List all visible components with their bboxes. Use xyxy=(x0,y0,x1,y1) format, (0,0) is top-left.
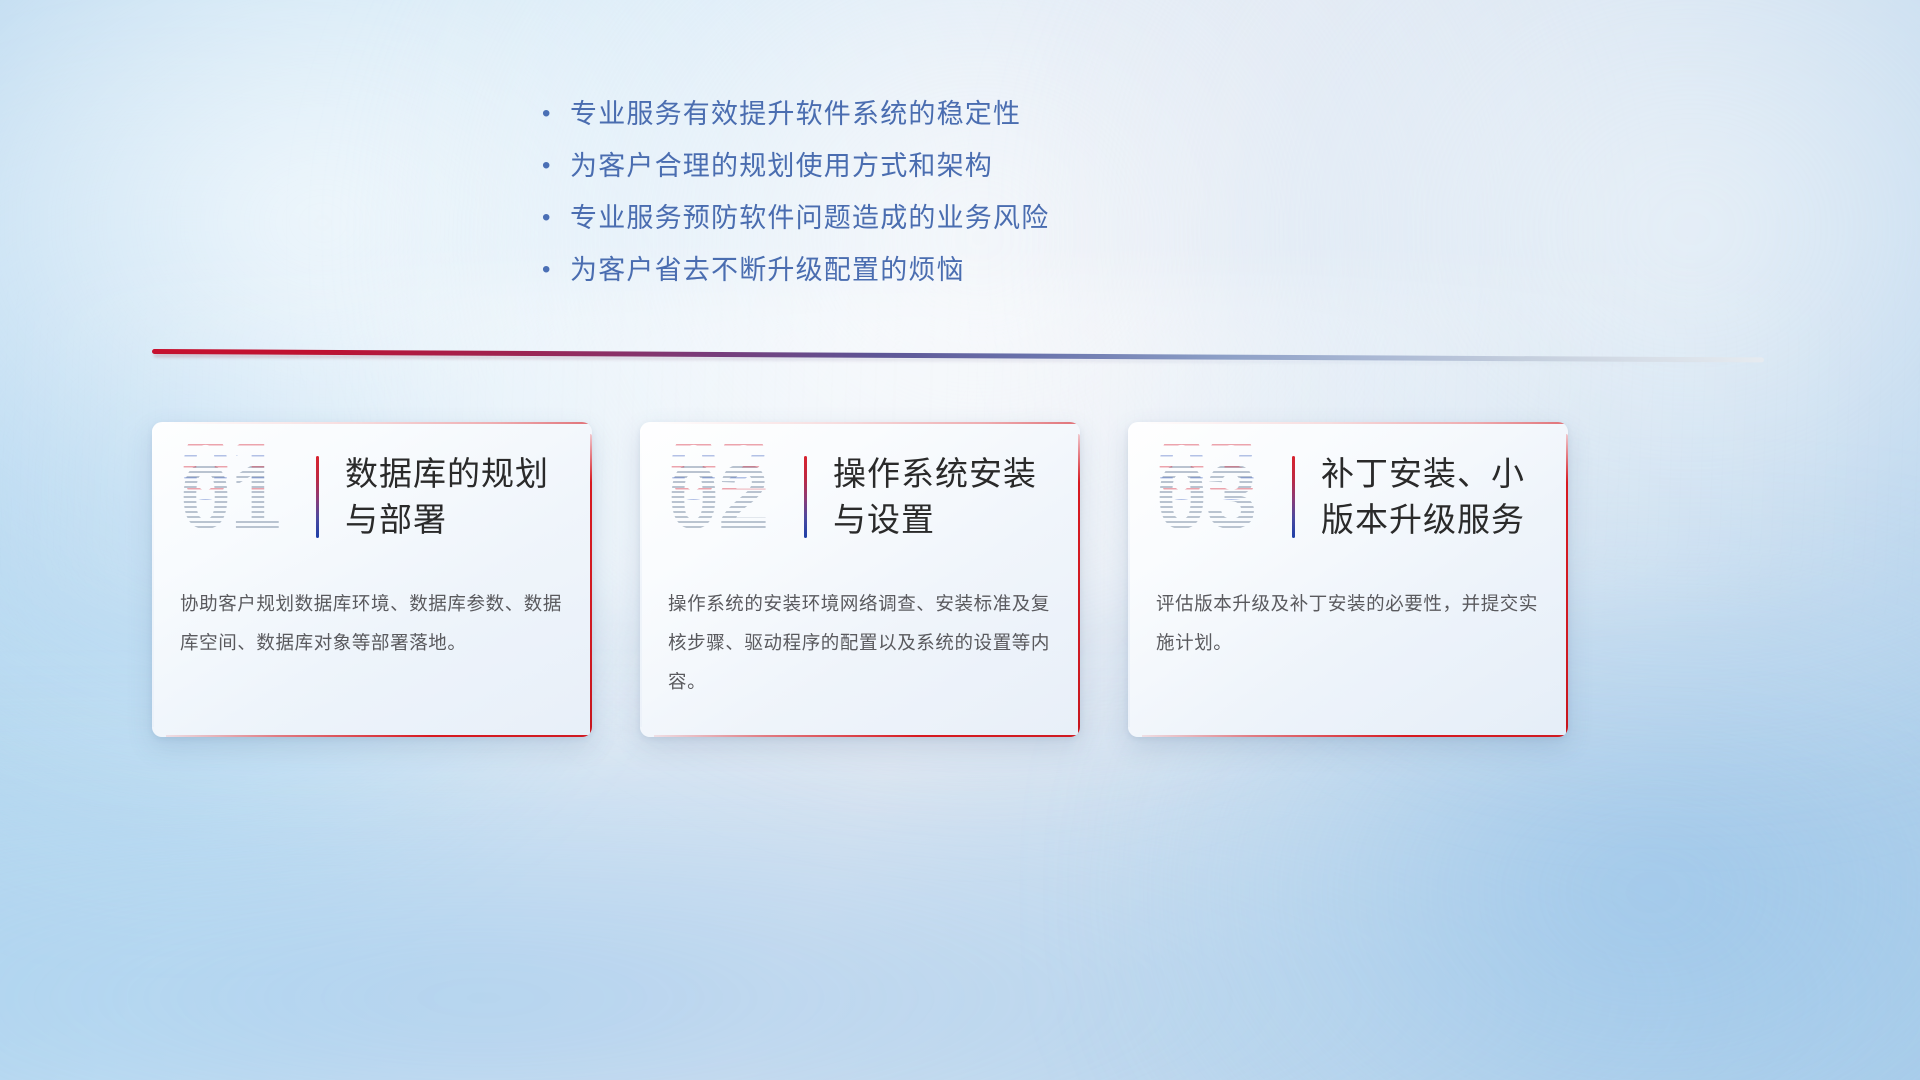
bullet-label-3: 专业服务预防软件问题造成的业务风险 xyxy=(570,192,1049,244)
card-header: 02 02 操作系统安装与设置 xyxy=(640,422,1080,572)
card-number-03: 03 xyxy=(1156,451,1282,543)
service-card-01[interactable]: 01 01 数据库的规划与部署 协助客户规划数据库环境、数据库参数、数据库空间、… xyxy=(152,422,592,737)
bullet-marker-icon: • xyxy=(536,88,570,140)
service-card-03[interactable]: 03 03 补丁安装、小版本升级服务 评估版本升级及补丁安装的必要性，并提交实施… xyxy=(1128,422,1568,737)
bullet-marker-icon: • xyxy=(536,140,570,192)
card-title-01: 数据库的规划与部署 xyxy=(345,451,566,543)
benefits-bullet-list: • 专业服务有效提升软件系统的稳定性 • 为客户合理的规划使用方式和架构 • 专… xyxy=(536,88,1276,296)
bullet-marker-icon: • xyxy=(536,192,570,244)
service-card-row: 01 01 数据库的规划与部署 协助客户规划数据库环境、数据库参数、数据库空间、… xyxy=(152,422,1768,742)
card-number-01: 01 xyxy=(180,451,306,543)
card-description-03: 评估版本升级及补丁安装的必要性，并提交实施计划。 xyxy=(1128,584,1568,662)
card-description-01: 协助客户规划数据库环境、数据库参数、数据库空间、数据库对象等部署落地。 xyxy=(152,584,592,662)
card-description-02: 操作系统的安装环境网络调查、安装标准及复核步骤、驱动程序的配置以及系统的设置等内… xyxy=(640,584,1080,701)
card-divider-bar-icon xyxy=(316,456,319,538)
bullet-item-4: • 为客户省去不断升级配置的烦恼 xyxy=(536,244,1276,296)
card-header: 03 03 补丁安装、小版本升级服务 xyxy=(1128,422,1568,572)
bullet-marker-icon: • xyxy=(536,244,570,296)
bullet-item-2: • 为客户合理的规划使用方式和架构 xyxy=(536,140,1276,192)
bullet-label-2: 为客户合理的规划使用方式和架构 xyxy=(570,140,993,192)
bullet-label-4: 为客户省去不断升级配置的烦恼 xyxy=(570,244,965,296)
bullet-label-1: 专业服务有效提升软件系统的稳定性 xyxy=(570,88,1021,140)
card-bottom-accent-edge xyxy=(1142,735,1568,738)
card-number-02: 02 xyxy=(668,451,794,543)
service-card-02[interactable]: 02 02 操作系统安装与设置 操作系统的安装环境网络调查、安装标准及复核步骤、… xyxy=(640,422,1080,737)
card-bottom-accent-edge xyxy=(166,735,592,738)
bullet-item-1: • 专业服务有效提升软件系统的稳定性 xyxy=(536,88,1276,140)
bullet-item-3: • 专业服务预防软件问题造成的业务风险 xyxy=(536,192,1276,244)
card-divider-bar-icon xyxy=(804,456,807,538)
card-title-02: 操作系统安装与设置 xyxy=(833,451,1054,543)
card-divider-bar-icon xyxy=(1292,456,1295,538)
card-title-03: 补丁安装、小版本升级服务 xyxy=(1321,451,1542,543)
card-bottom-accent-edge xyxy=(654,735,1080,738)
card-header: 01 01 数据库的规划与部署 xyxy=(152,422,592,572)
